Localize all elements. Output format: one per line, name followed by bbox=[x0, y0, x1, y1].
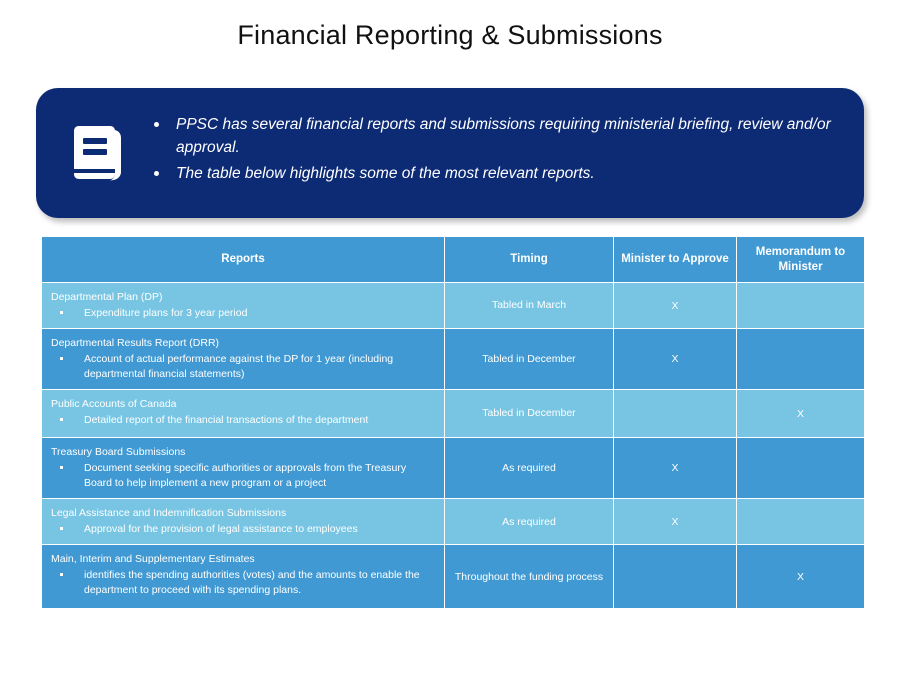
report-bullet-list: Document seeking specific authorities or… bbox=[51, 461, 436, 491]
cell-memorandum-to-minister: X bbox=[737, 390, 865, 438]
callout-bullet: PPSC has several financial reports and s… bbox=[148, 113, 836, 160]
cell-minister-to-approve bbox=[614, 390, 737, 438]
reports-table: Reports Timing Minister to Approve Memor… bbox=[41, 236, 865, 609]
cell-memorandum-to-minister bbox=[737, 438, 865, 499]
report-bullet: Approval for the provision of legal assi… bbox=[51, 522, 436, 537]
column-header-memorandum-to-minister: Memorandum to Minister bbox=[737, 237, 865, 283]
cell-report: Legal Assistance and Indemnification Sub… bbox=[42, 499, 445, 545]
cell-timing: As required bbox=[445, 438, 614, 499]
column-header-minister-to-approve: Minister to Approve bbox=[614, 237, 737, 283]
column-header-timing: Timing bbox=[445, 237, 614, 283]
report-bullet: Document seeking specific authorities or… bbox=[51, 461, 436, 491]
report-bullet: Account of actual performance against th… bbox=[51, 352, 436, 382]
report-title: Treasury Board Submissions bbox=[51, 445, 436, 460]
cell-minister-to-approve: X bbox=[614, 499, 737, 545]
cell-timing: Throughout the funding process bbox=[445, 545, 614, 609]
info-callout: PPSC has several financial reports and s… bbox=[36, 88, 864, 218]
report-bullet: Detailed report of the financial transac… bbox=[51, 413, 436, 428]
cell-report: Departmental Results Report (DRR) Accoun… bbox=[42, 329, 445, 390]
report-title: Public Accounts of Canada bbox=[51, 397, 436, 412]
slide-title: Financial Reporting & Submissions bbox=[0, 20, 900, 51]
report-bullet: Expenditure plans for 3 year period bbox=[51, 306, 436, 321]
cell-report: Treasury Board Submissions Document seek… bbox=[42, 438, 445, 499]
report-title: Departmental Results Report (DRR) bbox=[51, 336, 436, 351]
callout-body: PPSC has several financial reports and s… bbox=[148, 113, 864, 194]
cell-minister-to-approve: X bbox=[614, 283, 737, 329]
report-bullet-list: identifies the spending authorities (vot… bbox=[51, 568, 436, 598]
report-title: Main, Interim and Supplementary Estimate… bbox=[51, 552, 436, 567]
cell-timing: Tabled in March bbox=[445, 283, 614, 329]
table-row: Departmental Plan (DP) Expenditure plans… bbox=[42, 283, 865, 329]
callout-bullet-list: PPSC has several financial reports and s… bbox=[148, 113, 836, 186]
table-row: Legal Assistance and Indemnification Sub… bbox=[42, 499, 865, 545]
report-title: Legal Assistance and Indemnification Sub… bbox=[51, 506, 436, 521]
report-title: Departmental Plan (DP) bbox=[51, 290, 436, 305]
cell-memorandum-to-minister bbox=[737, 329, 865, 390]
cell-memorandum-to-minister bbox=[737, 283, 865, 329]
cell-timing: As required bbox=[445, 499, 614, 545]
cell-report: Public Accounts of Canada Detailed repor… bbox=[42, 390, 445, 438]
cell-report: Main, Interim and Supplementary Estimate… bbox=[42, 545, 445, 609]
book-icon bbox=[36, 122, 148, 184]
cell-report: Departmental Plan (DP) Expenditure plans… bbox=[42, 283, 445, 329]
report-bullet-list: Approval for the provision of legal assi… bbox=[51, 522, 436, 537]
report-bullet-list: Expenditure plans for 3 year period bbox=[51, 306, 436, 321]
report-bullet: identifies the spending authorities (vot… bbox=[51, 568, 436, 598]
cell-memorandum-to-minister: X bbox=[737, 545, 865, 609]
table-row: Treasury Board Submissions Document seek… bbox=[42, 438, 865, 499]
table-header-row: Reports Timing Minister to Approve Memor… bbox=[42, 237, 865, 283]
cell-timing: Tabled in December bbox=[445, 390, 614, 438]
callout-bullet: The table below highlights some of the m… bbox=[148, 162, 836, 186]
column-header-reports: Reports bbox=[42, 237, 445, 283]
cell-timing: Tabled in December bbox=[445, 329, 614, 390]
cell-minister-to-approve: X bbox=[614, 329, 737, 390]
report-bullet-list: Account of actual performance against th… bbox=[51, 352, 436, 382]
table-row: Public Accounts of Canada Detailed repor… bbox=[42, 390, 865, 438]
table-row: Main, Interim and Supplementary Estimate… bbox=[42, 545, 865, 609]
report-bullet-list: Detailed report of the financial transac… bbox=[51, 413, 436, 428]
table-row: Departmental Results Report (DRR) Accoun… bbox=[42, 329, 865, 390]
cell-minister-to-approve: X bbox=[614, 438, 737, 499]
cell-minister-to-approve bbox=[614, 545, 737, 609]
cell-memorandum-to-minister bbox=[737, 499, 865, 545]
